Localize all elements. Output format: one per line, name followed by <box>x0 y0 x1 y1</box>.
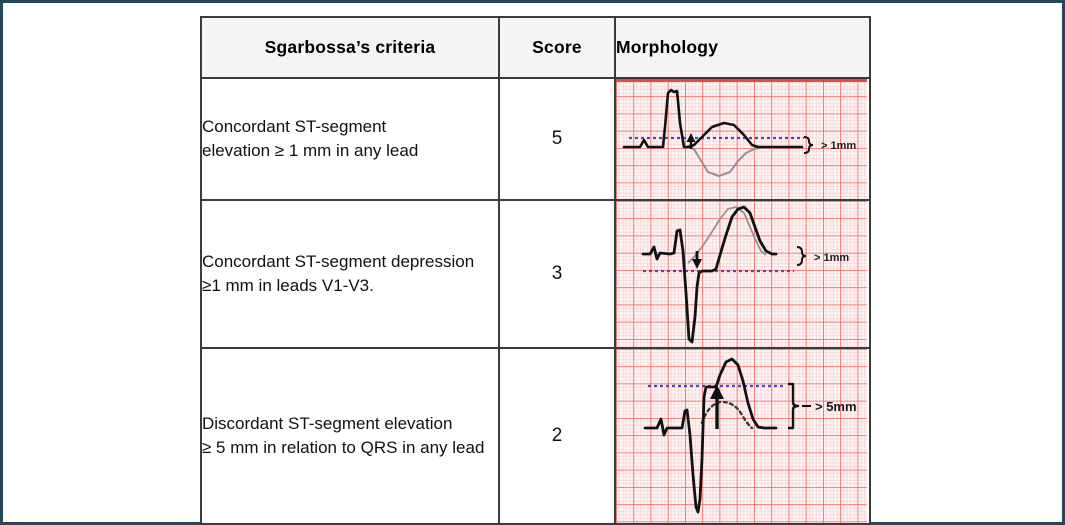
ecg-strip-2: > 1mm <box>616 201 867 347</box>
column-header-score: Score <box>499 17 615 78</box>
column-header-morphology: Morphology <box>615 17 870 78</box>
score-cell-2: 3 <box>499 200 615 348</box>
measure-label: > 1mm <box>814 252 849 264</box>
header-row: Sgarbossa’s criteria Score Morphology <box>201 17 870 78</box>
measure-label: > 1mm <box>821 140 856 152</box>
column-header-criteria: Sgarbossa’s criteria <box>201 17 499 78</box>
criteria-line: ≥1 mm in leads V1-V3. <box>202 274 498 298</box>
score-cell-1: 5 <box>499 78 615 200</box>
ecg-strip-3: > 5mm <box>616 349 867 523</box>
criteria-line: Concordant ST-segment depression <box>202 250 498 274</box>
page-container: Sgarbossa’s criteria Score Morphology Co… <box>0 0 1065 525</box>
morphology-cell-1: > 1mm <box>615 78 870 200</box>
criteria-cell-3: Discordant ST-segment elevation ≥ 5 mm i… <box>201 348 499 524</box>
criteria-line: ≥ 5 mm in relation to QRS in any lead <box>202 436 498 460</box>
criteria-line: elevation ≥ 1 mm in any lead <box>202 139 498 163</box>
criteria-cell-2: Concordant ST-segment depression ≥1 mm i… <box>201 200 499 348</box>
ecg-major-grid <box>616 201 867 347</box>
table-row: Discordant ST-segment elevation ≥ 5 mm i… <box>201 348 870 524</box>
criteria-cell-1: Concordant ST-segment elevation ≥ 1 mm i… <box>201 78 499 200</box>
ecg-strip-1: > 1mm <box>616 79 867 199</box>
criteria-line: Discordant ST-segment elevation <box>202 412 498 436</box>
table-row: Concordant ST-segment depression ≥1 mm i… <box>201 200 870 348</box>
criteria-line: Concordant ST-segment <box>202 115 498 139</box>
morphology-cell-2: > 1mm <box>615 200 870 348</box>
ecg-top-edge <box>616 79 867 82</box>
sgarbossa-criteria-table: Sgarbossa’s criteria Score Morphology Co… <box>200 16 871 525</box>
morphology-cell-3: > 5mm <box>615 348 870 524</box>
score-cell-3: 2 <box>499 348 615 524</box>
table-row: Concordant ST-segment elevation ≥ 1 mm i… <box>201 78 870 200</box>
table-body: Concordant ST-segment elevation ≥ 1 mm i… <box>201 78 870 524</box>
table-header: Sgarbossa’s criteria Score Morphology <box>201 17 870 78</box>
measure-label: > 5mm <box>815 399 857 414</box>
